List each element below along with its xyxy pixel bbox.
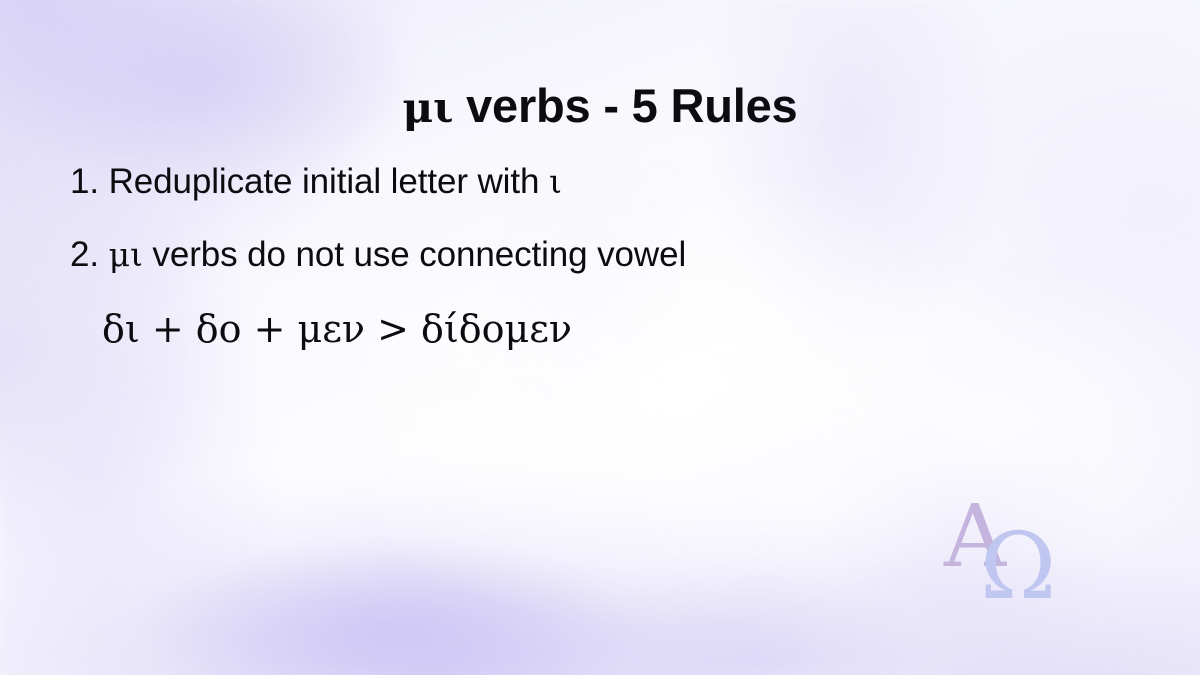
slide-title: μι verbs - 5 Rules	[0, 81, 1200, 130]
rule-2-text: verbs do not use connecting vowel	[143, 235, 686, 274]
slide-title-rest: verbs - 5 Rules	[453, 79, 797, 132]
rule-1-greek-iota: ι	[549, 162, 562, 201]
rule-1-number: 1.	[70, 162, 99, 201]
rule-2-greek-mi: μι	[109, 235, 143, 274]
logo-omega-glyph: Ω	[980, 513, 1056, 610]
alpha-omega-logo: Α Ω	[930, 490, 1080, 610]
slide-title-greek: μι	[403, 83, 454, 132]
rule-item-1: 1. Reduplicate initial letter with ι	[70, 164, 1130, 199]
greek-example-line: δι + δο + μεν > δίδομεν	[102, 310, 1130, 348]
rule-item-2: 2. μι verbs do not use connecting vowel	[70, 237, 1130, 272]
rule-2-spacer	[99, 235, 109, 274]
rule-2-number: 2.	[70, 235, 99, 274]
slide-body: 1. Reduplicate initial letter with ι 2. …	[70, 164, 1130, 348]
rule-1-text: Reduplicate initial letter with	[99, 162, 549, 201]
presentation-slide: μι verbs - 5 Rules 1. Reduplicate initia…	[0, 0, 1200, 675]
